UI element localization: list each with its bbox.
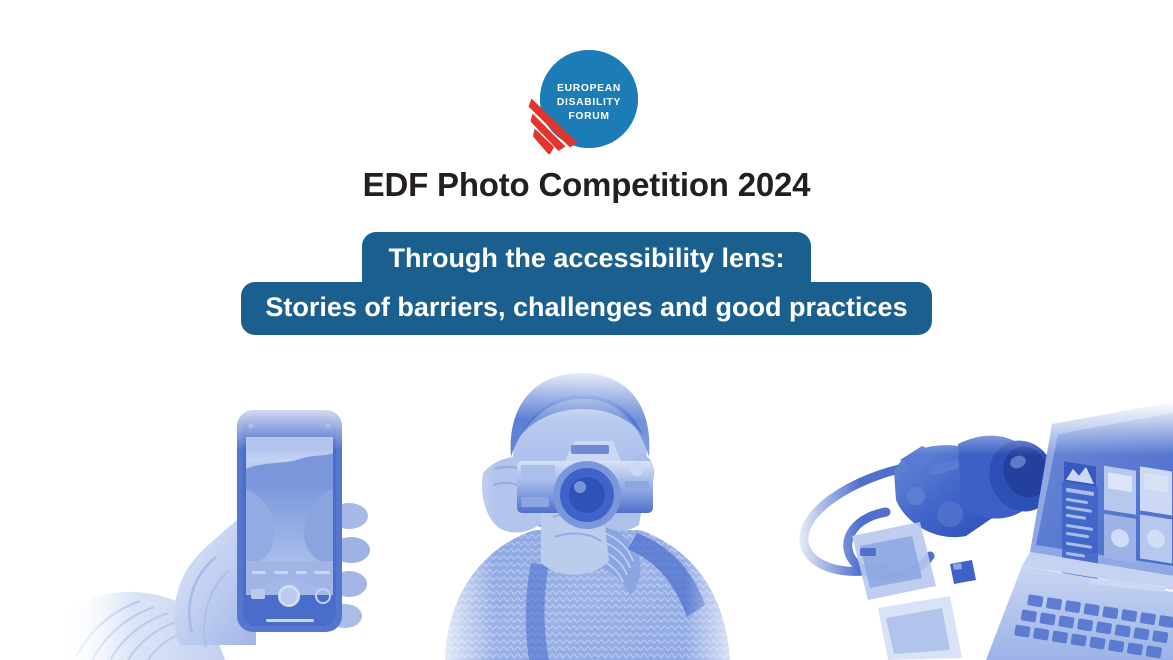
logo-line-3: FORUM [568, 111, 609, 122]
photo-strip [0, 345, 1173, 660]
phone-screen-camera-preview [246, 437, 333, 622]
logo-line-2: DISABILITY [557, 97, 621, 108]
page-title: EDF Photo Competition 2024 [0, 166, 1173, 204]
photo-prints [852, 522, 962, 660]
photo-photographer-with-camera [425, 365, 755, 660]
photo-3-graphic [790, 400, 1173, 660]
poster-canvas: EUROPEAN DISABILITY FORUM EDF Photo Comp… [0, 0, 1173, 660]
photo-dslr-camera-and-laptop [790, 400, 1173, 660]
photo-2-graphic [425, 365, 755, 660]
logo-graphic: EUROPEAN DISABILITY FORUM [516, 42, 656, 154]
subtitle-line-1: Through the accessibility lens: [362, 232, 810, 284]
european-disability-forum-logo: EUROPEAN DISABILITY FORUM [516, 42, 656, 154]
subtitle-banner: Through the accessibility lens: Stories … [0, 232, 1173, 335]
sd-memory-card [950, 560, 976, 584]
subtitle-line-2: Stories of barriers, challenges and good… [241, 282, 931, 335]
photo-1-graphic [60, 395, 420, 660]
photo-hand-holding-smartphone [60, 395, 420, 660]
logo-line-1: EUROPEAN [557, 83, 621, 94]
smartphone [237, 410, 342, 632]
